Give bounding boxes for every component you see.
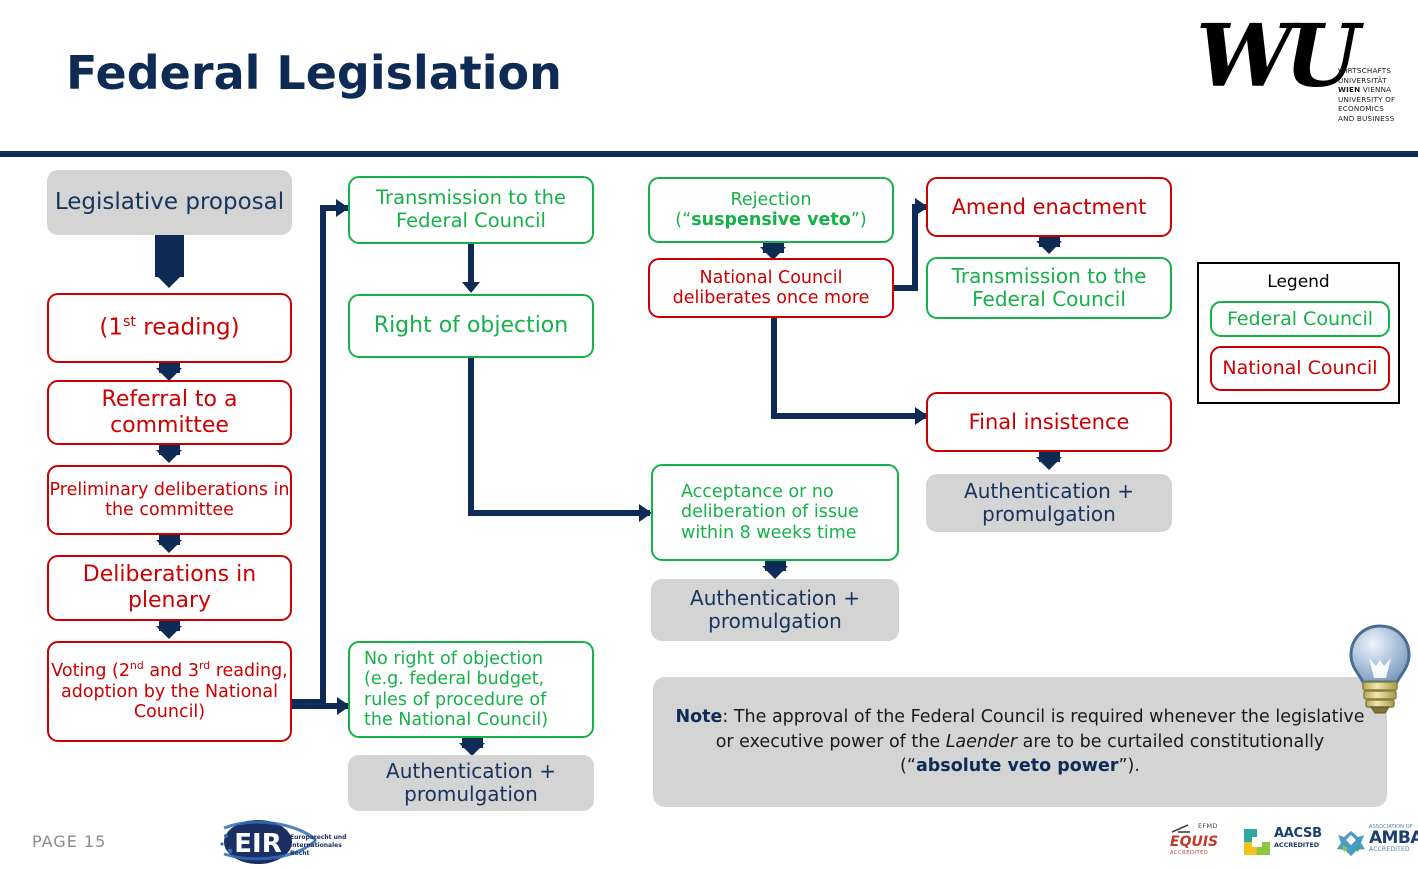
legend-item-federal-council: Federal Council	[1210, 301, 1390, 337]
connector-nc-to-final	[771, 413, 926, 419]
wu-logo-line4: UNIVERSITY OF	[1338, 95, 1395, 104]
connector-nc-up	[912, 204, 918, 291]
aacsb-logo: AACSB ACCREDITED	[1244, 826, 1330, 849]
connector-objection-down	[468, 358, 474, 516]
arrow-referral-to-preliminary	[156, 450, 182, 463]
note-part3: ”).	[1118, 756, 1139, 776]
box-acceptance-no-deliberation: Acceptance or no deliberation of issue w…	[651, 464, 899, 561]
first-reading-text: (1st reading)	[99, 314, 239, 342]
box-rejection-suspensive-veto: Rejection (“suspensive veto”)	[648, 177, 894, 243]
svg-text:EIR: EIR	[234, 829, 281, 859]
note-label: Note	[675, 707, 722, 727]
first-reading-sup: st	[123, 314, 136, 330]
amba-label: AMBA	[1369, 830, 1416, 846]
wu-logo-mark: WU	[1196, 14, 1352, 100]
equis-label: EQUIS	[1170, 834, 1236, 850]
connector-proposal-to-reading	[155, 235, 184, 277]
box-legislative-proposal: Legislative proposal	[47, 170, 292, 235]
voting-sup2: rd	[199, 659, 210, 672]
equis-logo: EFMD EQUIS ACCREDITED	[1168, 822, 1236, 856]
slide-root: Federal Legislation WU WIRTSCHAFTS UNIVE…	[0, 0, 1418, 869]
rejection-text: Rejection (“suspensive veto”)	[675, 190, 866, 231]
note-text: Note: The approval of the Federal Counci…	[675, 705, 1365, 780]
connector-voting-up-vertical	[320, 205, 326, 705]
box-deliberations-plenary: Deliberations in plenary	[47, 555, 292, 621]
page-number: PAGE 15	[32, 832, 106, 851]
wu-logo: WU WIRTSCHAFTS UNIVERSITÄT WIEN VIENNA U…	[1196, 14, 1406, 136]
box-referral-committee: Referral to a committee	[47, 380, 292, 445]
eir-line2: Internationales Recht	[290, 842, 342, 857]
connector-nc-down	[771, 318, 777, 419]
arrow-amend-to-transmission2	[1036, 241, 1062, 254]
amba-logo: ASSOCIATION OF AMBA ACCREDITED	[1336, 824, 1416, 853]
arrow-plenary-to-voting	[156, 626, 182, 639]
box-preliminary-deliberations: Preliminary deliberations in the committ…	[47, 465, 292, 535]
rejection-bold: suspensive veto	[691, 210, 851, 230]
aacsb-sub-label: ACCREDITED	[1274, 841, 1330, 849]
eir-logo-text: Europarecht und Internationales Recht	[290, 834, 362, 858]
voting-b: and 3	[144, 661, 199, 681]
accreditation-logos: EFMD EQUIS ACCREDITED AACSB ACCREDITED	[1168, 822, 1408, 866]
wu-logo-line1: WIRTSCHAFTS	[1338, 66, 1391, 75]
header-divider	[0, 151, 1418, 157]
note-bold-absolute-veto: absolute veto power	[916, 756, 1119, 776]
box-voting: Voting (2nd and 3rd reading, adoption by…	[47, 641, 292, 742]
connector-objection-right	[468, 510, 650, 516]
legend-title: Legend	[1199, 272, 1398, 292]
wu-logo-line3-rest: VIENNA	[1360, 85, 1391, 94]
voting-text: Voting (2nd and 3rd reading, adoption by…	[49, 660, 290, 722]
eir-line1: Europarecht und	[290, 834, 346, 841]
box-first-reading: (1st reading)	[47, 293, 292, 363]
arrow-proposal-to-reading	[156, 275, 182, 288]
first-reading-pre: (1	[99, 315, 123, 341]
aacsb-label: AACSB	[1274, 826, 1330, 841]
wu-logo-line3-bold: WIEN	[1338, 85, 1360, 94]
wu-logo-line5: ECONOMICS	[1338, 104, 1384, 113]
note-panel: Note: The approval of the Federal Counci…	[653, 677, 1387, 807]
box-national-council-deliberates: National Council deliberates once more	[648, 258, 894, 318]
arrow-final-to-auth	[1036, 457, 1062, 470]
wu-logo-subtitle: WIRTSCHAFTS UNIVERSITÄT WIEN VIENNA UNIV…	[1338, 66, 1408, 124]
wu-logo-line2: UNIVERSITÄT	[1338, 76, 1387, 85]
rejection-line1: Rejection	[731, 190, 812, 210]
voting-sup1: nd	[130, 659, 144, 672]
box-authentication-promulgation-1: Authentication + promulgation	[348, 755, 594, 811]
wu-logo-line6: AND BUSINESS	[1338, 114, 1394, 123]
box-right-of-objection: Right of objection	[348, 294, 594, 358]
arrow-transmission-to-objection	[462, 282, 480, 293]
equis-sub-label: ACCREDITED	[1170, 850, 1236, 856]
eir-logo: EIR Europarecht und Internationales Rech…	[212, 818, 362, 866]
legend-panel: Legend Federal Council National Council	[1197, 262, 1400, 404]
box-no-right-of-objection: No right of objection (e.g. federal budg…	[348, 641, 594, 738]
voting-a: Voting (2	[51, 661, 130, 681]
box-transmission-federal-council-2: Transmission to the Federal Council	[926, 257, 1172, 319]
arrow-acceptance-to-auth	[762, 566, 788, 579]
box-final-insistence: Final insistence	[926, 392, 1172, 452]
box-authentication-promulgation-3: Authentication + promulgation	[926, 474, 1172, 532]
amba-sub-label: ACCREDITED	[1369, 846, 1416, 853]
box-transmission-federal-council: Transmission to the Federal Council	[348, 176, 594, 244]
box-amend-enactment: Amend enactment	[926, 177, 1172, 237]
legend-item-national-council: National Council	[1210, 346, 1390, 391]
lightbulb-icon	[1343, 622, 1417, 714]
efmd-label: EFMD	[1198, 822, 1218, 830]
rejection-quote-close: ”)	[851, 210, 867, 230]
box-authentication-promulgation-2: Authentication + promulgation	[651, 579, 899, 641]
rejection-quote-open: (“	[675, 210, 691, 230]
note-italic-laender: Laender	[946, 732, 1017, 752]
page-title: Federal Legislation	[66, 46, 562, 100]
first-reading-post: reading)	[136, 315, 240, 341]
arrow-preliminary-to-plenary	[156, 540, 182, 553]
